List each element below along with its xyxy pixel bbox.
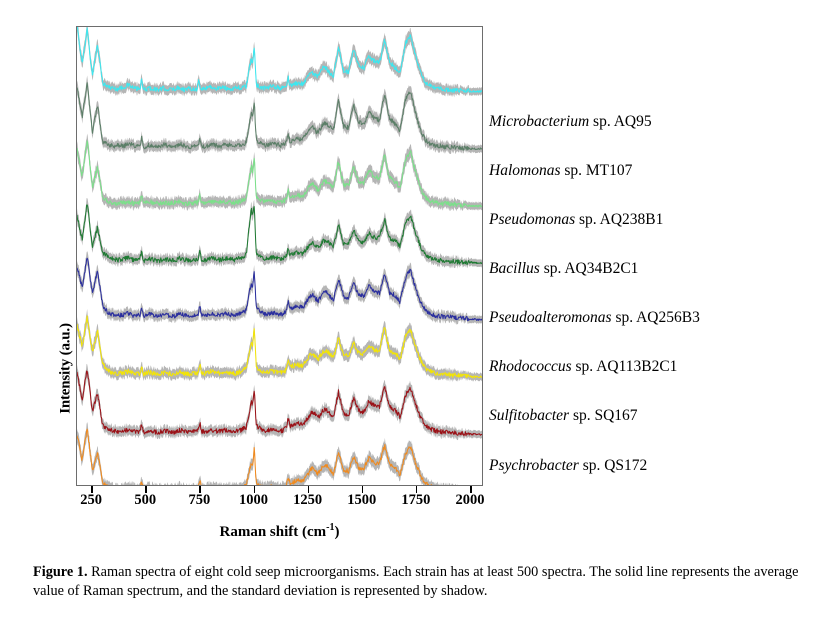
- series-label-6: Sulfitobacter sp. SQ167: [489, 408, 638, 424]
- series-strain: sp. AQ113B2C1: [572, 358, 678, 375]
- x-tick-label: 500: [134, 492, 156, 509]
- raman-spectra-plot: [77, 27, 482, 485]
- series-label-0: Microbacterium sp. AQ95: [489, 114, 652, 130]
- x-tick-label: 1000: [239, 492, 268, 509]
- series-genus: Psychrobacter: [489, 457, 579, 474]
- figure-root: Intensity (a.u.) 25050075010001250150017…: [0, 0, 827, 621]
- series-strain: sp. AQ95: [589, 113, 651, 130]
- y-axis-title-wrap: Intensity (a.u.): [30, 190, 60, 330]
- caption-label: Figure 1.: [33, 564, 88, 580]
- caption-text: Raman spectra of eight cold seep microor…: [33, 564, 798, 599]
- y-axis-title: Intensity (a.u.): [58, 289, 75, 449]
- x-axis-title-exponent: -1: [326, 522, 334, 533]
- x-tick-label: 750: [189, 492, 211, 509]
- series-genus: Microbacterium: [489, 113, 589, 130]
- series-genus: Halomonas: [489, 162, 560, 179]
- series-strain: sp. AQ256B3: [612, 309, 700, 326]
- x-tick-label: 1750: [401, 492, 430, 509]
- series-label-2: Pseudomonas sp. AQ238B1: [489, 212, 663, 228]
- series-genus: Sulfitobacter: [489, 407, 569, 424]
- x-axis-title-main: Raman shift (cm: [220, 524, 327, 540]
- x-tick-label: 1250: [293, 492, 322, 509]
- series-line-7: [77, 429, 482, 485]
- series-strain: sp. AQ34B2C1: [540, 260, 639, 277]
- series-label-list: Microbacterium sp. AQ95Halomonas sp. MT1…: [489, 26, 827, 486]
- series-genus: Rhodococcus: [489, 358, 572, 375]
- plot-frame: [76, 26, 483, 486]
- series-strain: sp. SQ167: [569, 407, 637, 424]
- series-label-1: Halomonas sp. MT107: [489, 163, 632, 179]
- figure-caption: Figure 1. Raman spectra of eight cold se…: [33, 563, 801, 601]
- x-axis-tick-labels: 25050075010001250150017502000: [76, 492, 483, 514]
- series-label-7: Psychrobacter sp. QS172: [489, 458, 647, 474]
- series-label-3: Bacillus sp. AQ34B2C1: [489, 261, 638, 277]
- series-strain: sp. MT107: [560, 162, 632, 179]
- series-strain: sp. QS172: [579, 457, 647, 474]
- series-label-4: Pseudoalteromonas sp. AQ256B3: [489, 310, 700, 326]
- x-axis-title-close: ): [335, 524, 340, 540]
- series-genus: Pseudomonas: [489, 211, 575, 228]
- series-genus: Bacillus: [489, 260, 540, 277]
- x-tick-label: 2000: [456, 492, 485, 509]
- x-axis-title: Raman shift (cm-1): [76, 522, 483, 541]
- series-label-5: Rhodococcus sp. AQ113B2C1: [489, 359, 677, 375]
- series-genus: Pseudoalteromonas: [489, 309, 612, 326]
- series-strain: sp. AQ238B1: [575, 211, 663, 228]
- x-tick-label: 250: [80, 492, 102, 509]
- x-tick-label: 1500: [347, 492, 376, 509]
